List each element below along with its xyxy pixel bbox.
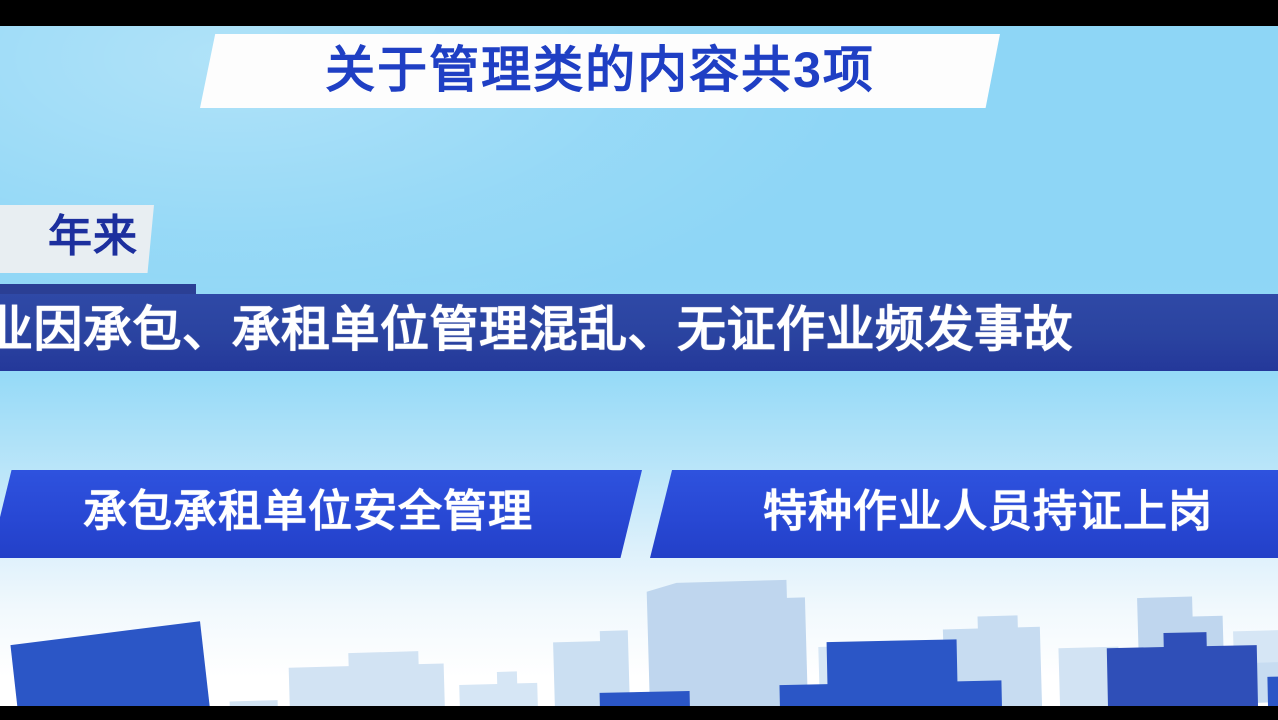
topic-tag-contractor-safety-label: 承包承租单位安全管理 [83, 490, 533, 534]
headline-text: 关于管理类的内容共3项 [325, 45, 875, 95]
sub-banner-text: 年来 [48, 215, 138, 259]
letterbox-bottom-bar [0, 706, 1278, 720]
topic-tag-contractor-safety[interactable]: 承包承租单位安全管理 [0, 470, 642, 558]
topic-tag-special-operations-license-label: 特种作业人员持证上岗 [763, 490, 1213, 534]
main-statement-text: 业因承包、承租单位管理混乱、无证作业频发事故 [0, 306, 1073, 355]
main-statement-banner: 业因承包、承租单位管理混乱、无证作业频发事故 [0, 294, 1278, 371]
headline-banner: 关于管理类的内容共3项 [200, 34, 1000, 108]
topic-tag-row: 承包承租单位安全管理 特种作业人员持证上岗 [0, 470, 1278, 558]
city-skyline-illustration [0, 540, 1278, 720]
infographic-slide: 关于管理类的内容共3项 年来 业因承包、承租单位管理混乱、无证作业频发事故 承包… [0, 0, 1278, 720]
letterbox-top-bar [0, 0, 1278, 26]
topic-tag-special-operations-license[interactable]: 特种作业人员持证上岗 [650, 470, 1278, 558]
sub-banner: 年来 [0, 205, 154, 273]
